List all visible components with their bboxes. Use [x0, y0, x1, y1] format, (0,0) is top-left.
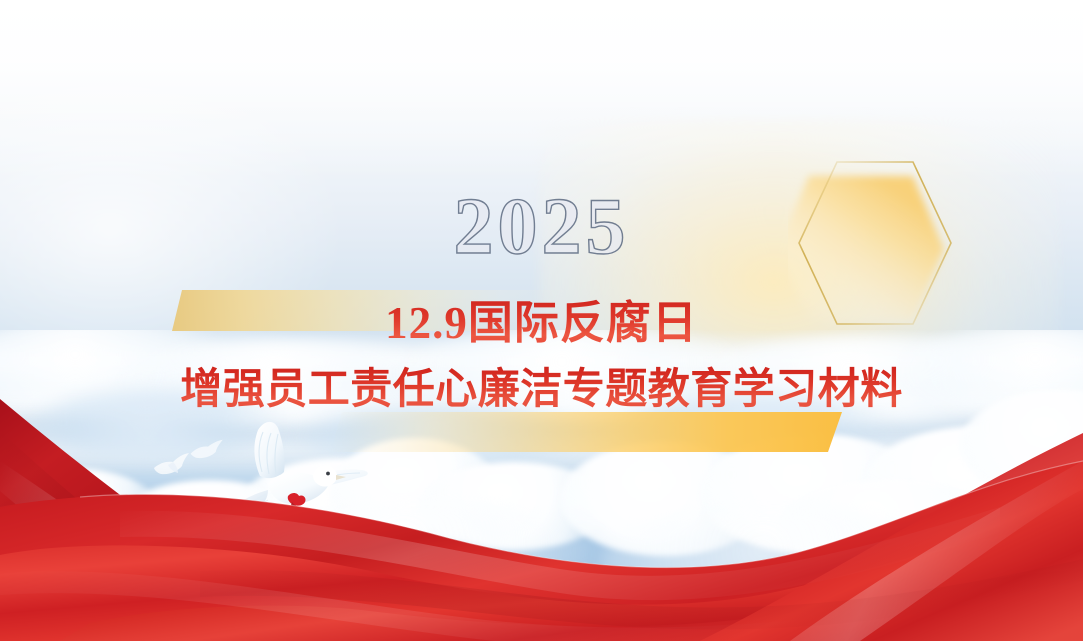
- dove-icon: [196, 418, 386, 538]
- subtitle: 增强员工责任心廉洁专题教育学习材料: [0, 355, 1083, 416]
- main-title: 12.9国际反腐日: [0, 286, 1083, 351]
- year-label: 2025: [0, 182, 1083, 273]
- gold-ribbon-bottom: [330, 412, 842, 452]
- cloud-puff: [600, 506, 960, 622]
- poster-canvas: 2025 12.9国际反腐日 增强员工责任心廉洁专题教育学习材料: [0, 0, 1083, 641]
